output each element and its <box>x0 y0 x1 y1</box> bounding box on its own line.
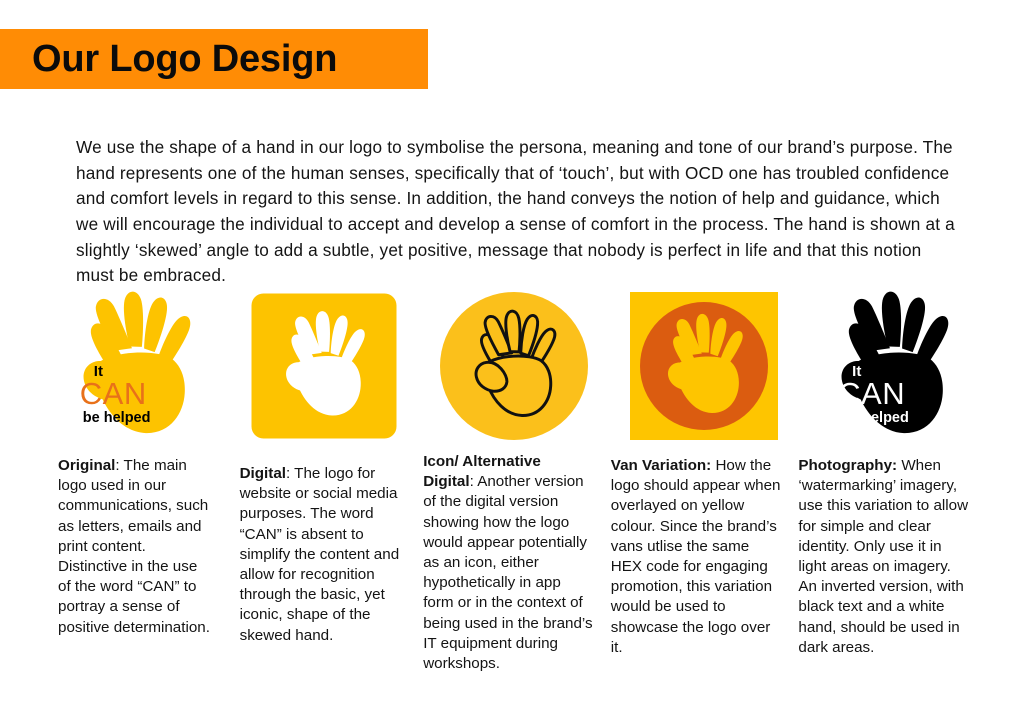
logo-variant-photography: It CAN be helped <box>798 278 988 453</box>
caption-body: : The main logo used in our communicatio… <box>58 457 210 636</box>
page-header-bar: Our Logo Design <box>0 29 428 89</box>
caption-term: Digital <box>240 465 286 482</box>
caption-term: Original <box>58 457 115 474</box>
caption-body: How the logo should appear when overlaye… <box>611 457 781 656</box>
caption-icon-alternative-digital: Icon/ Alternative Digital: Another versi… <box>419 450 609 674</box>
hand-logo-van-variation-icon <box>648 310 760 422</box>
logo-stage-digital <box>244 286 404 446</box>
logo-variant-digital <box>230 278 420 453</box>
logo-stage-photography: It CAN be helped <box>813 286 973 446</box>
caption-body: When ‘watermarking’ imagery, use this va… <box>798 457 968 656</box>
logo-stage-icon-alternative <box>434 286 594 446</box>
intro-paragraph: We use the shape of a hand in our logo t… <box>76 135 956 289</box>
logo-captions-row: Original: The main logo used in our comm… <box>40 450 988 674</box>
hand-logo-icon-alternative-icon <box>455 307 573 425</box>
caption-digital: Digital: The logo for website or social … <box>230 450 420 674</box>
caption-photography: Photography: When ‘watermarking’ imagery… <box>798 450 988 674</box>
caption-term: Van Variation: <box>611 457 711 474</box>
page-title: Our Logo Design <box>32 40 337 78</box>
logo-stage-original: It CAN be helped <box>55 286 215 446</box>
hand-logo-photography-icon <box>813 286 973 446</box>
caption-original: Original: The main logo used in our comm… <box>40 450 230 674</box>
logo-stage-van-variation <box>624 286 784 446</box>
hand-logo-digital-icon <box>265 307 383 425</box>
caption-body: : The logo for website or social media p… <box>240 465 400 644</box>
logo-variant-original: It CAN be helped <box>40 278 230 453</box>
logo-variant-icon-alternative-digital <box>419 278 609 453</box>
caption-body: : Another version of the digital version… <box>423 473 592 672</box>
hand-logo-original-icon <box>55 286 215 446</box>
caption-term: Photography: <box>798 457 897 474</box>
caption-van-variation: Van Variation: How the logo should appea… <box>609 450 799 674</box>
logo-variant-van-variation <box>609 278 799 453</box>
logo-variants-row: It CAN be helped <box>40 278 988 453</box>
